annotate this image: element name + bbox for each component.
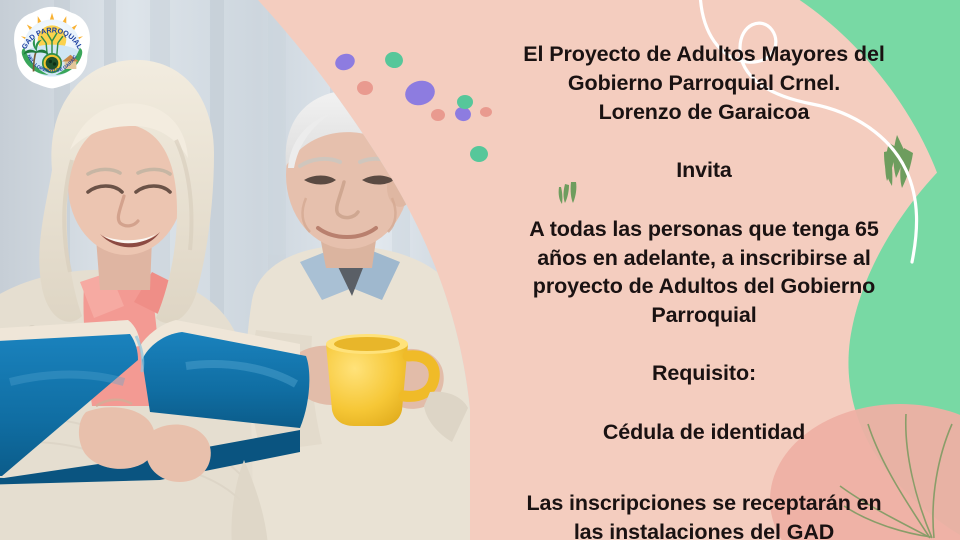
- heading-line-3: Lorenzo de Garaicoa: [492, 98, 916, 127]
- flyer-heading: El Proyecto de Adultos Mayores del Gobie…: [492, 40, 916, 127]
- body-line-3: proyecto de Adultos del Gobierno: [492, 272, 916, 301]
- body-line-4: Parroquial: [492, 301, 916, 330]
- poster-canvas: GAD PARROQUIAL CRNEL. LORENZO DE GARAICO…: [0, 0, 960, 540]
- flyer-body: A todas las personas que tenga 65 años e…: [492, 215, 916, 329]
- requisito-label: Requisito:: [492, 359, 916, 388]
- heading-line-1: El Proyecto de Adultos Mayores del: [492, 40, 916, 69]
- heading-line-2: Gobierno Parroquial Crnel.: [492, 69, 916, 98]
- body-line-1: A todas las personas que tenga 65: [492, 215, 916, 244]
- requisito-value: Cédula de identidad: [492, 418, 916, 447]
- invita-label: Invita: [492, 156, 916, 185]
- footer-line-1: Las inscripciones se receptarán en: [492, 489, 916, 518]
- flyer-text-column: El Proyecto de Adultos Mayores del Gobie…: [492, 0, 916, 540]
- footer-line-2: las instalaciones del GAD: [492, 518, 916, 540]
- gad-parroquial-logo: GAD PARROQUIAL CRNEL. LORENZO DE GARAICO…: [10, 4, 94, 92]
- body-line-2: años en adelante, a inscribirse al: [492, 244, 916, 273]
- flyer-footer: Las inscripciones se receptarán en las i…: [492, 489, 916, 540]
